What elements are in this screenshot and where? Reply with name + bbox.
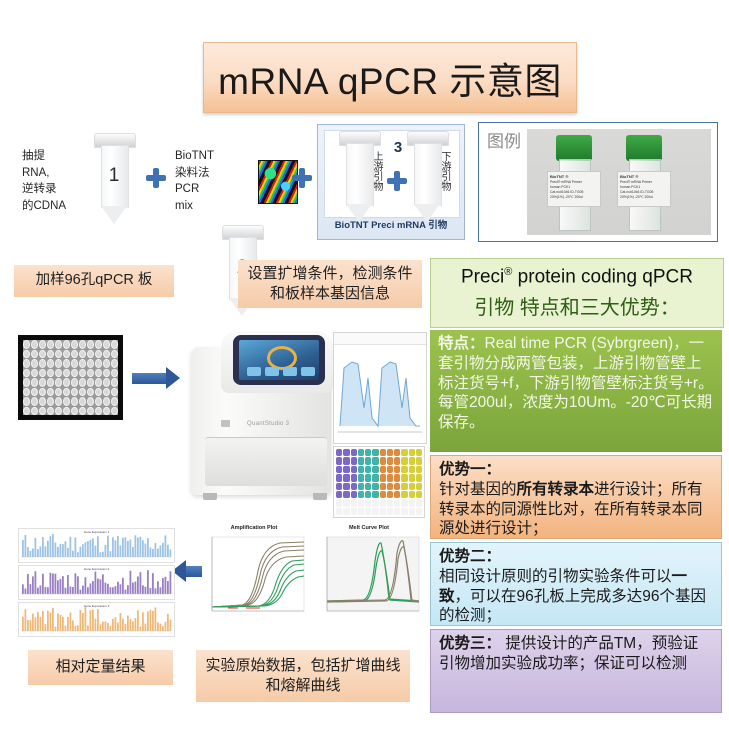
bar bbox=[42, 574, 44, 594]
legend-box: 图例 BioTNT ® Preci® mRNA Primer human PCK… bbox=[478, 122, 718, 242]
bar bbox=[100, 579, 102, 594]
layout-cell bbox=[336, 499, 342, 506]
layout-cell bbox=[394, 457, 400, 464]
plate-well bbox=[31, 350, 38, 359]
bar bbox=[65, 541, 67, 557]
plate-well bbox=[95, 340, 102, 349]
layout-cell bbox=[387, 449, 393, 456]
bar bbox=[150, 588, 152, 594]
bar bbox=[145, 624, 147, 631]
plate-well bbox=[111, 369, 118, 378]
layout-cell bbox=[387, 491, 393, 498]
layout-cell bbox=[343, 466, 349, 473]
bar bbox=[45, 587, 47, 594]
bar bbox=[62, 617, 64, 631]
rq-chart-2-title: Gene Expression 2 bbox=[19, 567, 174, 571]
plate-well bbox=[39, 407, 46, 416]
layout-cell bbox=[351, 466, 357, 473]
bar bbox=[102, 622, 104, 631]
layout-cell bbox=[358, 457, 364, 464]
bar bbox=[57, 547, 59, 557]
plate-well bbox=[63, 378, 70, 387]
plate-well bbox=[63, 350, 70, 359]
machine-usb-port bbox=[221, 420, 230, 427]
plate-well bbox=[55, 340, 62, 349]
plate-well bbox=[39, 369, 46, 378]
plate-well bbox=[39, 350, 46, 359]
vial-brand: BioTNT ® bbox=[550, 174, 568, 179]
bar bbox=[60, 544, 62, 557]
bar bbox=[57, 613, 59, 631]
layout-cell bbox=[401, 457, 407, 464]
plate-well bbox=[71, 407, 78, 416]
machine-touchscreen[interactable] bbox=[239, 340, 319, 380]
plate-well bbox=[47, 369, 54, 378]
rq-chart-3: Gene Expression 3 bbox=[18, 602, 175, 637]
96-well-plate-image bbox=[18, 335, 123, 420]
plate-well bbox=[103, 340, 110, 349]
plate-well bbox=[55, 388, 62, 397]
page-title: mRNA qPCR 示意图 bbox=[218, 51, 562, 105]
rq-chart-3-title: Gene Expression 3 bbox=[19, 604, 174, 608]
plate-well bbox=[39, 340, 46, 349]
plate-well bbox=[39, 397, 46, 406]
plate-well bbox=[63, 340, 70, 349]
layout-cell bbox=[372, 508, 378, 515]
bar bbox=[67, 548, 69, 557]
bar bbox=[120, 584, 122, 594]
plate-well bbox=[79, 359, 86, 368]
bar bbox=[37, 549, 39, 557]
screen-button-2[interactable] bbox=[265, 367, 279, 376]
bar bbox=[152, 573, 154, 594]
bar bbox=[142, 585, 144, 594]
bar bbox=[25, 589, 27, 594]
bar bbox=[135, 582, 137, 594]
bar bbox=[115, 617, 117, 631]
plate-well bbox=[31, 388, 38, 397]
bar bbox=[27, 574, 29, 594]
bar bbox=[167, 581, 169, 594]
layout-cell bbox=[351, 457, 357, 464]
plate-well bbox=[31, 378, 38, 387]
bar bbox=[22, 540, 24, 557]
bar bbox=[30, 551, 32, 557]
layout-cell bbox=[336, 508, 342, 515]
plate-well bbox=[111, 340, 118, 349]
plate-well bbox=[103, 369, 110, 378]
panel-header-line2: 引物 特点和三大优势： bbox=[474, 291, 680, 320]
layout-cell bbox=[343, 508, 349, 515]
bar bbox=[42, 611, 44, 631]
bar bbox=[122, 578, 124, 594]
bar bbox=[55, 543, 57, 557]
plate-well bbox=[71, 369, 78, 378]
legend-vial-right: BioTNT ® Preci® mRNA Primer human PCK1 C… bbox=[623, 135, 665, 231]
bar bbox=[110, 587, 112, 594]
plate-well bbox=[55, 369, 62, 378]
layout-cell bbox=[409, 508, 415, 515]
bar bbox=[47, 611, 49, 631]
plate-well bbox=[103, 350, 110, 359]
plate-well bbox=[47, 378, 54, 387]
layout-cell bbox=[416, 508, 422, 515]
thermal-profile-chart bbox=[333, 332, 427, 444]
plate-well bbox=[87, 407, 94, 416]
bar bbox=[137, 577, 139, 594]
bar bbox=[167, 545, 169, 557]
bar bbox=[117, 582, 119, 594]
layout-cell bbox=[343, 457, 349, 464]
plate-well bbox=[23, 388, 30, 397]
layout-cell bbox=[401, 491, 407, 498]
bar bbox=[52, 608, 54, 631]
label-raw-data: 实验原始数据，包括扩增曲线和熔解曲线 bbox=[196, 650, 410, 702]
layout-cell bbox=[351, 508, 357, 515]
plate-well bbox=[23, 378, 30, 387]
plate-well bbox=[79, 388, 86, 397]
bar bbox=[147, 538, 149, 557]
plate-well bbox=[79, 378, 86, 387]
bar bbox=[127, 585, 129, 594]
plus-icon-1 bbox=[146, 168, 166, 188]
vial-cap-icon bbox=[626, 135, 662, 161]
plate-well bbox=[55, 359, 62, 368]
bar bbox=[140, 537, 142, 557]
layout-cell bbox=[380, 474, 386, 481]
bar bbox=[157, 549, 159, 557]
vial-gene: human PCK1 bbox=[550, 185, 570, 189]
screen-button-4[interactable] bbox=[301, 367, 315, 376]
bar bbox=[125, 537, 127, 557]
thermal-profile-plot bbox=[338, 348, 422, 434]
feature-title: 特点： bbox=[438, 335, 485, 352]
plate-well bbox=[95, 350, 102, 359]
layout-cell bbox=[351, 483, 357, 490]
bar bbox=[60, 579, 62, 594]
advantage-2-text: 相同设计原则的引物实验条件可以一致，可以在96孔板上完成多达96个基因的检测； bbox=[439, 567, 713, 626]
bar bbox=[40, 617, 42, 631]
primer-pair-inner: 上游引物 下游引物 3 bbox=[324, 130, 460, 218]
plate-well bbox=[111, 388, 118, 397]
plate-well bbox=[63, 397, 70, 406]
layout-cell bbox=[394, 466, 400, 473]
layout-cell bbox=[394, 483, 400, 490]
plate-well bbox=[71, 388, 78, 397]
layout-cell bbox=[358, 449, 364, 456]
bar bbox=[67, 575, 69, 594]
bar bbox=[97, 579, 99, 594]
layout-cell bbox=[365, 508, 371, 515]
step2-label: BioTNT 染料法 PCR mix bbox=[175, 148, 225, 215]
plate-well bbox=[95, 397, 102, 406]
plate-well bbox=[23, 397, 30, 406]
bar bbox=[130, 619, 132, 631]
plate-well bbox=[55, 397, 62, 406]
bar bbox=[87, 541, 89, 557]
layout-cell bbox=[401, 483, 407, 490]
layout-cell bbox=[351, 474, 357, 481]
bar bbox=[62, 576, 64, 594]
layout-cell bbox=[351, 449, 357, 456]
layout-cell bbox=[372, 491, 378, 498]
bar bbox=[125, 624, 127, 631]
bar bbox=[77, 625, 79, 631]
bar bbox=[132, 621, 134, 631]
plate-well bbox=[79, 350, 86, 359]
bar bbox=[110, 551, 112, 557]
bar bbox=[125, 590, 127, 594]
bar bbox=[135, 535, 137, 557]
layout-cell bbox=[380, 508, 386, 515]
bar bbox=[70, 586, 72, 594]
layout-cell bbox=[401, 466, 407, 473]
panel-advantage-3: 优势三： 提供设计的产品TM，预验证引物增加实验成功率；保证可以检测 bbox=[430, 629, 722, 713]
plate-well bbox=[23, 359, 30, 368]
layout-cell bbox=[380, 449, 386, 456]
label-relative-quantification: 相对定量结果 bbox=[28, 650, 173, 685]
plate-well bbox=[103, 407, 110, 416]
legend-photo: BioTNT ® Preci® mRNA Primer human PCK1 C… bbox=[527, 129, 711, 235]
plate-well bbox=[47, 340, 54, 349]
plate-well bbox=[23, 407, 30, 416]
plate-layout-grid bbox=[333, 446, 425, 518]
bar bbox=[105, 545, 107, 557]
vial-cat: Cat.no#1046 ID-TG05 bbox=[620, 190, 653, 194]
plate-well bbox=[63, 388, 70, 397]
bar bbox=[107, 584, 109, 594]
legend-vial-left: BioTNT ® Preci® mRNA Primer human PCK1 C… bbox=[553, 135, 595, 231]
vial-cap-icon bbox=[556, 135, 592, 161]
screen-button-3[interactable] bbox=[283, 367, 297, 376]
layout-cell bbox=[336, 474, 342, 481]
bar bbox=[155, 608, 157, 631]
bar bbox=[117, 536, 119, 557]
layout-cell bbox=[365, 474, 371, 481]
layout-cell bbox=[401, 499, 407, 506]
layout-cell bbox=[336, 466, 342, 473]
machine-drawer[interactable] bbox=[205, 437, 327, 486]
bar bbox=[117, 623, 119, 631]
layout-cell bbox=[380, 491, 386, 498]
bar bbox=[120, 613, 122, 631]
layout-cell bbox=[343, 449, 349, 456]
bar bbox=[145, 587, 147, 594]
bar bbox=[82, 544, 84, 557]
thermal-profile-header bbox=[334, 333, 426, 345]
bar bbox=[72, 620, 74, 631]
arrow-plots-to-quant bbox=[172, 560, 202, 583]
qpcr-machine-image: QuantStudio 3 bbox=[185, 325, 345, 515]
layout-cell bbox=[380, 466, 386, 473]
bar bbox=[22, 617, 24, 631]
plate-well bbox=[79, 407, 86, 416]
bar bbox=[85, 542, 87, 557]
bar bbox=[127, 541, 129, 557]
bar bbox=[65, 625, 67, 631]
plate-well bbox=[111, 397, 118, 406]
layout-cell bbox=[416, 466, 422, 473]
plate-well bbox=[71, 359, 78, 368]
bar bbox=[32, 548, 34, 557]
bar bbox=[160, 587, 162, 594]
legend-title: 图例 bbox=[487, 127, 521, 152]
layout-cell bbox=[336, 449, 342, 456]
screen-button-1[interactable] bbox=[247, 367, 261, 376]
bar bbox=[130, 540, 132, 557]
bar bbox=[90, 610, 92, 631]
layout-cell bbox=[358, 474, 364, 481]
bar bbox=[25, 535, 27, 557]
bar bbox=[120, 546, 122, 557]
plate-well bbox=[23, 350, 30, 359]
bar bbox=[92, 538, 94, 557]
bar bbox=[115, 586, 117, 594]
bar bbox=[47, 541, 49, 557]
bar bbox=[47, 587, 49, 594]
bar bbox=[170, 571, 172, 594]
primer-pair-caption: BioTNT Preci mRNA 引物 bbox=[318, 217, 464, 231]
bar bbox=[55, 574, 57, 594]
plate-well bbox=[63, 407, 70, 416]
layout-cell bbox=[387, 508, 393, 515]
bar bbox=[90, 540, 92, 557]
layout-cell bbox=[394, 449, 400, 456]
bar bbox=[130, 571, 132, 594]
tube-forward-primer: 上游引物 bbox=[337, 131, 381, 223]
vial-label-right: BioTNT ® Preci® mRNA Primer human PCK1 C… bbox=[617, 171, 671, 207]
bar bbox=[165, 535, 167, 557]
bar bbox=[150, 610, 152, 631]
bar bbox=[42, 537, 44, 557]
panel-advantage-2: 优势二： 相同设计原则的引物实验条件可以一致，可以在96孔板上完成多达96个基因… bbox=[430, 542, 722, 626]
layout-cell bbox=[387, 466, 393, 473]
bar bbox=[75, 573, 77, 594]
panel-advantage-1: 优势一： 针对基因的所有转录本进行设计；所有转录本的同源性比对，在所有转录本同源… bbox=[430, 455, 722, 539]
plate-well bbox=[95, 388, 102, 397]
layout-cell bbox=[387, 499, 393, 506]
bar bbox=[112, 619, 114, 631]
layout-cell bbox=[387, 457, 393, 464]
plus-icon-3 bbox=[387, 171, 407, 191]
bar bbox=[55, 627, 57, 631]
layout-cell bbox=[358, 499, 364, 506]
bar bbox=[155, 588, 157, 594]
plate-well bbox=[55, 378, 62, 387]
plate-layout-cells bbox=[336, 449, 422, 515]
bar bbox=[162, 543, 164, 557]
plate-well bbox=[71, 350, 78, 359]
plate-well bbox=[79, 369, 86, 378]
bar bbox=[35, 617, 37, 631]
bar bbox=[165, 577, 167, 594]
layout-cell bbox=[372, 483, 378, 490]
bar bbox=[77, 552, 79, 557]
rq-chart-1: Gene Expression 1 bbox=[18, 528, 175, 563]
layout-cell bbox=[416, 483, 422, 490]
bar bbox=[87, 625, 89, 631]
plate-well bbox=[31, 340, 38, 349]
layout-cell bbox=[409, 457, 415, 464]
layout-cell bbox=[409, 474, 415, 481]
panel-feature: 特点：Real time PCR (Sybrgreen)，一套引物分成两管包装，… bbox=[430, 330, 722, 452]
plate-well bbox=[87, 359, 94, 368]
layout-cell bbox=[336, 457, 342, 464]
bar bbox=[107, 536, 109, 557]
bar bbox=[72, 587, 74, 594]
bar bbox=[150, 547, 152, 557]
plate-well bbox=[55, 350, 62, 359]
forward-primer-label: 上游引物 bbox=[337, 151, 381, 191]
plate-well bbox=[87, 340, 94, 349]
layout-cell bbox=[358, 491, 364, 498]
bar bbox=[70, 612, 72, 631]
step1-label: 抽提 RNA, 逆转录 的CDNA bbox=[22, 148, 84, 215]
layout-cell bbox=[365, 491, 371, 498]
layout-cell bbox=[401, 474, 407, 481]
plate-well bbox=[103, 378, 110, 387]
panel-header-line1: Preci® protein coding qPCR bbox=[461, 266, 693, 288]
layout-cell bbox=[351, 499, 357, 506]
bar bbox=[37, 588, 39, 594]
bar bbox=[30, 620, 32, 631]
layout-cell bbox=[358, 483, 364, 490]
bar bbox=[105, 622, 107, 631]
vial-gene: human PCK1 bbox=[620, 185, 640, 189]
plate-well bbox=[87, 369, 94, 378]
plate-well bbox=[31, 369, 38, 378]
plate-well bbox=[47, 388, 54, 397]
plate-well bbox=[47, 359, 54, 368]
vial-storage: 20%(1%) -20℃ 200ul bbox=[620, 195, 653, 199]
vial-storage: 20%(1%) -20℃ 200ul bbox=[550, 195, 583, 199]
advantage-1-title: 优势一： bbox=[439, 460, 713, 480]
layout-cell bbox=[416, 499, 422, 506]
bar bbox=[162, 626, 164, 631]
layout-cell bbox=[372, 457, 378, 464]
bar bbox=[122, 538, 124, 557]
plate-well bbox=[31, 407, 38, 416]
bar bbox=[80, 547, 82, 557]
advantage-3-text: 优势三： 提供设计的产品TM，预验证引物增加实验成功率；保证可以检测 bbox=[439, 634, 713, 674]
vial-cat: Cat.no#1046 ID-TG05 bbox=[550, 190, 583, 194]
plate-well bbox=[95, 407, 102, 416]
bar bbox=[112, 587, 114, 594]
bar bbox=[142, 612, 144, 631]
plate-well bbox=[39, 378, 46, 387]
bar bbox=[137, 538, 139, 557]
advantage-3-title: 优势三： bbox=[439, 635, 501, 652]
layout-cell bbox=[394, 491, 400, 498]
bar bbox=[30, 584, 32, 594]
bar bbox=[127, 615, 129, 631]
layout-cell bbox=[401, 508, 407, 515]
vial-product: Preci® mRNA Primer bbox=[550, 180, 582, 184]
layout-cell bbox=[365, 449, 371, 456]
bar bbox=[75, 626, 77, 631]
layout-cell bbox=[409, 466, 415, 473]
bar bbox=[87, 587, 89, 594]
bar bbox=[95, 546, 97, 557]
bar bbox=[75, 537, 77, 557]
bar bbox=[52, 574, 54, 594]
bar bbox=[92, 610, 94, 631]
vial-label-left: BioTNT ® Preci® mRNA Primer human PCK1 C… bbox=[547, 171, 601, 207]
bar bbox=[152, 611, 154, 631]
bar bbox=[155, 543, 157, 557]
bar bbox=[135, 618, 137, 631]
bar bbox=[72, 551, 74, 557]
